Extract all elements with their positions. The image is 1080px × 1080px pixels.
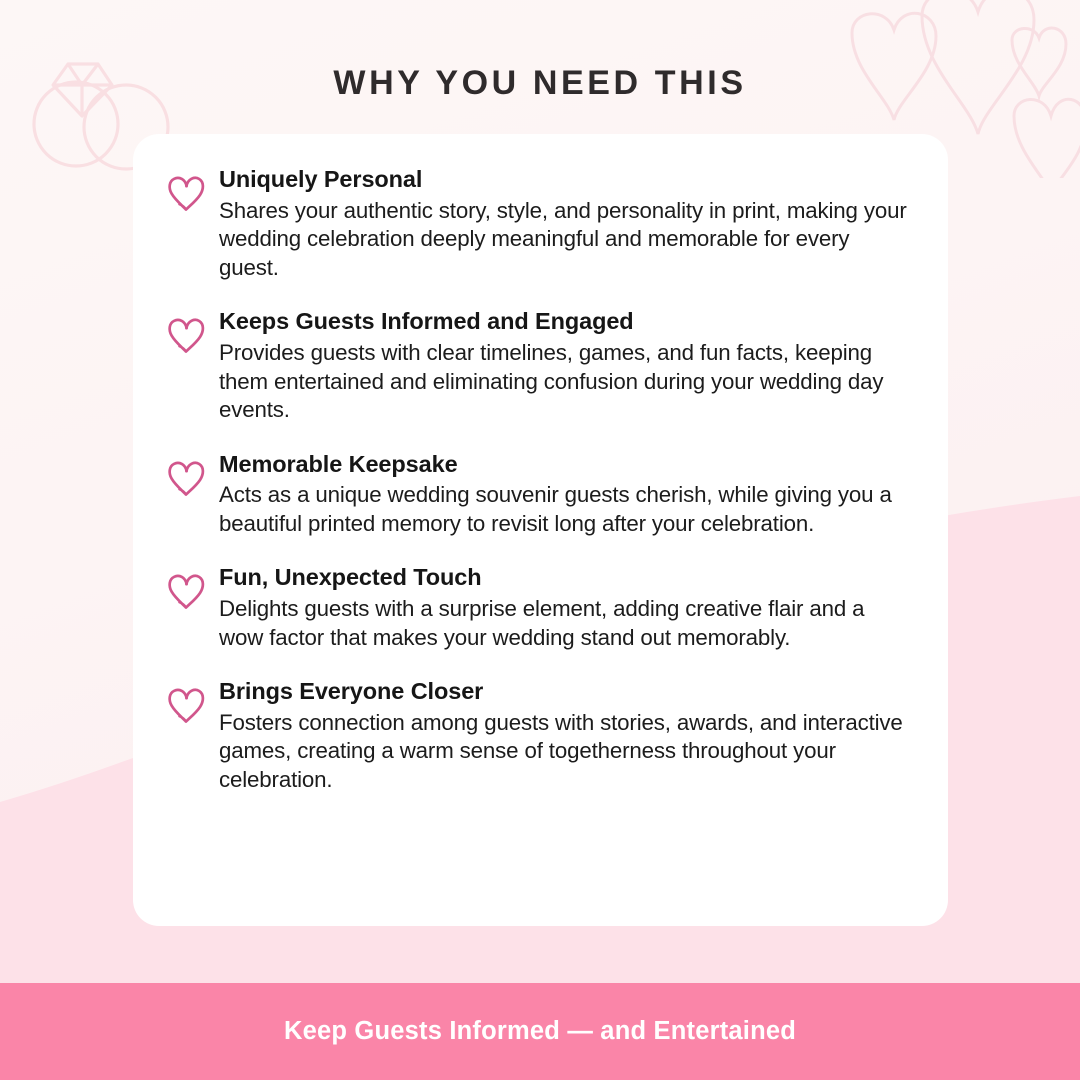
benefit-title: Uniquely Personal <box>219 166 908 194</box>
benefit-item: Uniquely Personal Shares your authentic … <box>166 166 908 282</box>
benefit-title: Brings Everyone Closer <box>219 678 908 706</box>
poster-canvas: WHY YOU NEED THIS Uniquely Personal Shar… <box>0 0 1080 1080</box>
benefit-title: Memorable Keepsake <box>219 451 908 479</box>
footer-text: Keep Guests Informed — and Entertained <box>284 1017 796 1046</box>
benefit-description: Fosters connection among guests with sto… <box>219 709 908 795</box>
benefit-item: Brings Everyone Closer Fosters connectio… <box>166 678 908 794</box>
heart-outline-icon <box>166 458 206 500</box>
heart-outline-icon <box>166 685 206 727</box>
benefit-title: Keeps Guests Informed and Engaged <box>219 308 908 336</box>
footer-banner: Keep Guests Informed — and Entertained <box>0 983 1080 1080</box>
benefit-item: Keeps Guests Informed and Engaged Provid… <box>166 308 908 424</box>
benefit-description: Acts as a unique wedding souvenir guests… <box>219 481 908 538</box>
benefit-description: Shares your authentic story, style, and … <box>219 197 908 283</box>
benefit-title: Fun, Unexpected Touch <box>219 564 908 592</box>
benefit-item: Memorable Keepsake Acts as a unique wedd… <box>166 451 908 539</box>
heart-outline-icon <box>166 173 206 215</box>
page-title: WHY YOU NEED THIS <box>0 64 1080 103</box>
heart-outline-icon <box>166 315 206 357</box>
benefit-description: Provides guests with clear timelines, ga… <box>219 339 908 425</box>
benefits-card: Uniquely Personal Shares your authentic … <box>133 134 948 926</box>
heart-outline-icon <box>166 571 206 613</box>
benefit-description: Delights guests with a surprise element,… <box>219 595 908 652</box>
benefit-item: Fun, Unexpected Touch Delights guests wi… <box>166 564 908 652</box>
